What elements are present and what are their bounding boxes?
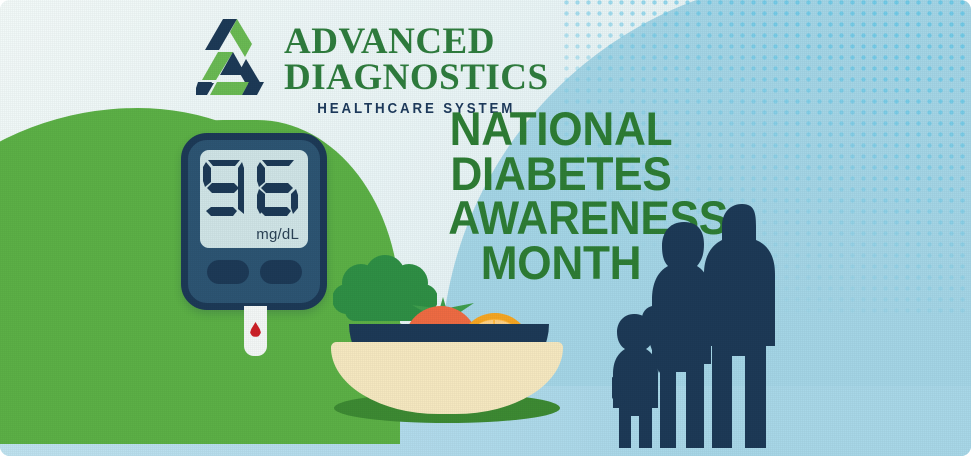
meter-button-left[interactable]	[207, 260, 249, 284]
diabetes-awareness-banner: ADVANCED DIAGNOSTICS HEALTHCARE SYSTEM N…	[0, 0, 971, 456]
brand-name-line-1: ADVANCED	[284, 24, 549, 60]
meter-button-right[interactable]	[260, 260, 302, 284]
advanced-diagnostics-triangle-mark-icon	[196, 16, 270, 96]
meter-unit-label: mg/dL	[256, 226, 299, 243]
seven-segment-digits-icon	[200, 156, 304, 220]
family-silhouette-group	[612, 196, 812, 456]
meter-reading-lcd	[200, 156, 304, 220]
meter-display-screen: mg/dL	[200, 150, 308, 248]
headline-line-1: NATIONAL	[448, 107, 674, 152]
glucose-meter: mg/dL	[181, 133, 327, 310]
brand-name-line-2: DIAGNOSTICS	[284, 60, 549, 96]
headline-line-2: DIABETES	[448, 152, 674, 197]
